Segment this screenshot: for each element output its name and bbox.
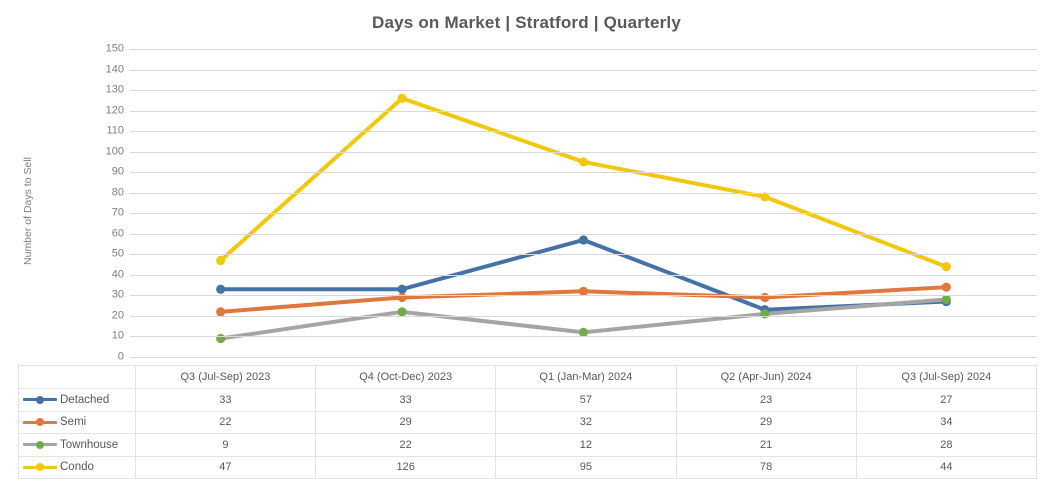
cell-detached-4: 27 <box>856 389 1036 412</box>
y-tick-label-130: 130 <box>106 85 124 96</box>
legend-label: Semi <box>60 416 86 428</box>
y-tick-label-100: 100 <box>106 146 124 157</box>
column-header-0: Q3 (Jul-Sep) 2023 <box>135 366 315 389</box>
legend-header-cell <box>19 366 136 389</box>
data-point-townhouse-3 <box>760 309 769 318</box>
gridline-20 <box>130 316 1037 317</box>
line-chart-svg <box>130 49 1037 357</box>
table-row: Condo47126957844 <box>19 456 1037 479</box>
column-header-3: Q2 (Apr-Jun) 2024 <box>676 366 856 389</box>
legend-item-townhouse[interactable]: Townhouse <box>19 434 136 457</box>
y-tick-label-60: 60 <box>112 228 124 239</box>
cell-semi-3: 29 <box>676 411 856 434</box>
cell-semi-4: 34 <box>856 411 1036 434</box>
legend-item-condo[interactable]: Condo <box>19 456 136 479</box>
gridline-130 <box>130 90 1037 91</box>
gridline-80 <box>130 193 1037 194</box>
gridline-70 <box>130 213 1037 214</box>
cell-detached-0: 33 <box>135 389 315 412</box>
cell-townhouse-1: 22 <box>316 434 496 457</box>
cell-condo-3: 78 <box>676 456 856 479</box>
y-tick-label-0: 0 <box>118 352 124 363</box>
table-header-row: Q3 (Jul-Sep) 2023Q4 (Oct-Dec) 2023Q1 (Ja… <box>19 366 1037 389</box>
gridline-0 <box>130 357 1037 358</box>
column-header-2: Q1 (Jan-Mar) 2024 <box>496 366 676 389</box>
cell-detached-1: 33 <box>316 389 496 412</box>
cell-semi-1: 29 <box>316 411 496 434</box>
y-tick-label-110: 110 <box>106 126 124 137</box>
data-point-detached-2 <box>579 235 588 244</box>
column-header-1: Q4 (Oct-Dec) 2023 <box>316 366 496 389</box>
cell-condo-4: 44 <box>856 456 1036 479</box>
cell-detached-2: 57 <box>496 389 676 412</box>
gridline-150 <box>130 49 1037 50</box>
legend-label: Condo <box>60 461 94 473</box>
chart-data-table: Q3 (Jul-Sep) 2023Q4 (Oct-Dec) 2023Q1 (Ja… <box>18 365 1037 479</box>
legend-swatch-icon <box>23 395 57 404</box>
y-tick-label-90: 90 <box>112 167 124 178</box>
cell-townhouse-0: 9 <box>135 434 315 457</box>
y-axis-tick-labels: 1501401301201101009080706050403020100 <box>88 49 124 357</box>
y-tick-label-150: 150 <box>106 44 124 55</box>
data-point-townhouse-4 <box>942 295 951 304</box>
cell-condo-2: 95 <box>496 456 676 479</box>
chart-plot-area <box>130 49 1037 357</box>
data-point-detached-0 <box>216 285 225 294</box>
y-tick-label-140: 140 <box>106 64 124 75</box>
y-tick-label-20: 20 <box>112 310 124 321</box>
y-tick-label-30: 30 <box>112 290 124 301</box>
gridline-10 <box>130 336 1037 337</box>
table-row: Semi2229322934 <box>19 411 1037 434</box>
gridline-30 <box>130 295 1037 296</box>
cell-semi-2: 32 <box>496 411 676 434</box>
chart-title: Days on Market | Stratford | Quarterly <box>0 13 1053 33</box>
y-tick-label-80: 80 <box>112 187 124 198</box>
gridline-140 <box>130 70 1037 71</box>
data-point-detached-1 <box>398 285 407 294</box>
y-axis-title: Number of Days to Sell <box>22 131 34 291</box>
gridline-50 <box>130 254 1037 255</box>
data-point-condo-1 <box>398 94 407 103</box>
data-point-semi-4 <box>942 283 951 292</box>
cell-semi-0: 22 <box>135 411 315 434</box>
gridline-100 <box>130 152 1037 153</box>
column-header-4: Q3 (Jul-Sep) 2024 <box>856 366 1036 389</box>
y-tick-label-50: 50 <box>112 249 124 260</box>
cell-townhouse-2: 12 <box>496 434 676 457</box>
legend-swatch-icon <box>23 418 57 427</box>
legend-item-detached[interactable]: Detached <box>19 389 136 412</box>
y-tick-label-10: 10 <box>112 331 124 342</box>
gridline-90 <box>130 172 1037 173</box>
cell-condo-0: 47 <box>135 456 315 479</box>
data-point-condo-2 <box>579 157 588 166</box>
table-row: Detached3333572327 <box>19 389 1037 412</box>
table-body: Detached3333572327Semi2229322934Townhous… <box>19 389 1037 479</box>
data-point-condo-0 <box>216 256 225 265</box>
cell-condo-1: 126 <box>316 456 496 479</box>
gridline-40 <box>130 275 1037 276</box>
gridline-110 <box>130 131 1037 132</box>
cell-townhouse-4: 28 <box>856 434 1036 457</box>
legend-item-semi[interactable]: Semi <box>19 411 136 434</box>
y-tick-label-70: 70 <box>112 208 124 219</box>
gridline-120 <box>130 111 1037 112</box>
legend-label: Townhouse <box>60 439 118 451</box>
y-tick-label-40: 40 <box>112 269 124 280</box>
legend-swatch-icon <box>23 440 57 449</box>
cell-detached-3: 23 <box>676 389 856 412</box>
gridline-60 <box>130 234 1037 235</box>
data-point-condo-4 <box>942 262 951 271</box>
y-tick-label-120: 120 <box>106 105 124 116</box>
legend-swatch-icon <box>23 463 57 472</box>
table-row: Townhouse922122128 <box>19 434 1037 457</box>
legend-label: Detached <box>60 394 109 406</box>
cell-townhouse-3: 21 <box>676 434 856 457</box>
